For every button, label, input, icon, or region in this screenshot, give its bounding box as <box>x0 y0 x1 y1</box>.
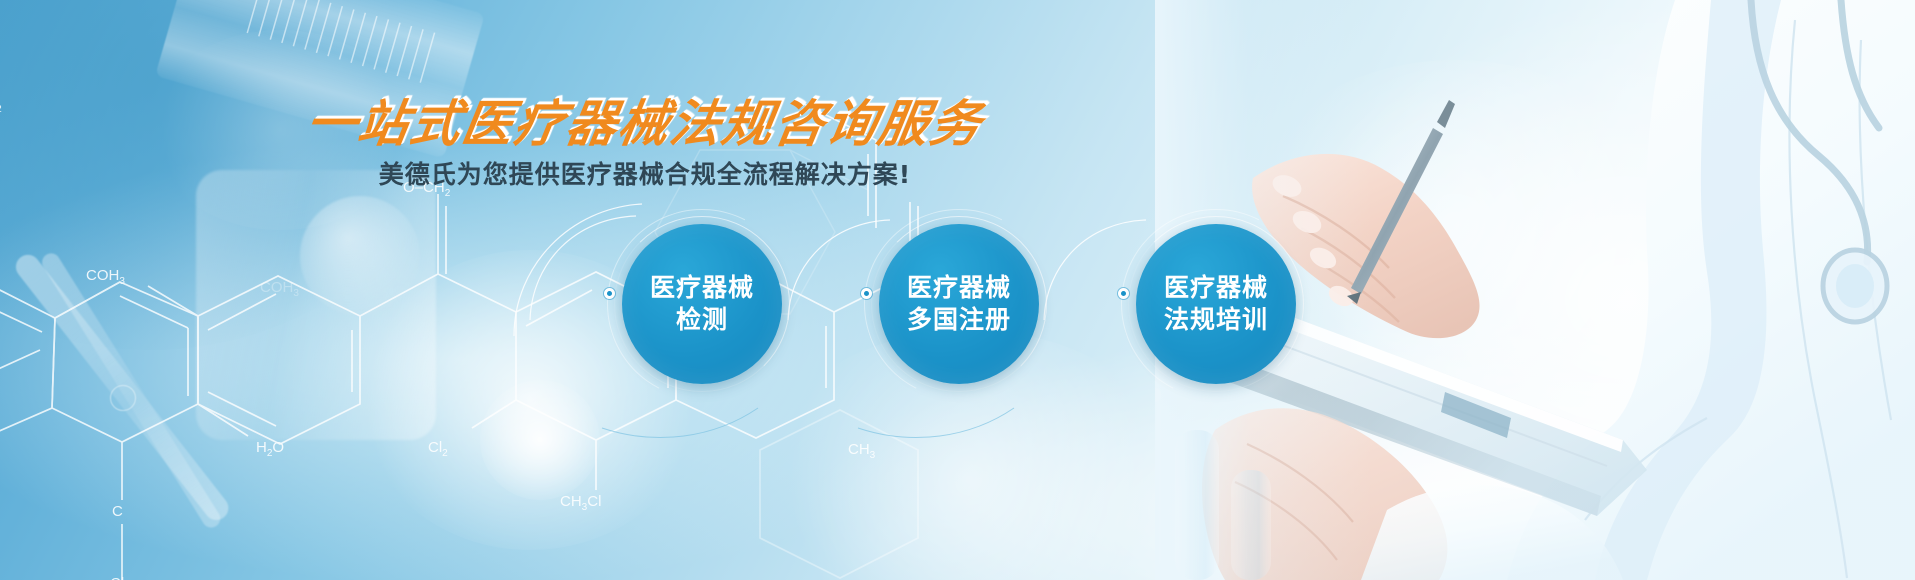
chem-label-c: C <box>112 503 123 520</box>
service-badge-group: 医疗器械 检测 医疗器械 多国注册 医疗器械 法规培训 <box>614 216 1304 392</box>
chem-label-coh3: COH3 <box>86 267 125 287</box>
page-subtitle: 美德氏为您提供医疗器械合规全流程解决方案! <box>379 155 911 191</box>
subheadline-container: 美德氏为您提供医疗器械合规全流程解决方案! <box>0 155 1290 191</box>
service-badge-testing[interactable]: 医疗器械 检测 <box>614 216 790 392</box>
badge-label-line2: 检测 <box>676 304 728 336</box>
service-badge-multicountry-registration[interactable]: 医疗器械 多国注册 <box>871 216 1047 392</box>
badge-label-line1: 医疗器械 <box>650 272 754 304</box>
badge-disc: 医疗器械 检测 <box>622 224 782 384</box>
service-badge-regulatory-training[interactable]: 医疗器械 法规培训 <box>1128 216 1304 392</box>
chem-label-cl: Cl <box>110 575 124 580</box>
badge-label-line1: 医疗器械 <box>1164 272 1268 304</box>
badge-node-dot-icon <box>604 288 615 299</box>
badge-node-dot-icon <box>1118 288 1129 299</box>
badge-node-dot-icon <box>861 288 872 299</box>
badge-label-line1: 医疗器械 <box>907 272 1011 304</box>
chem-label-ch3cl: CH3Cl <box>560 493 601 513</box>
page-title: 一站式医疗器械法规咨询服务 <box>301 84 988 156</box>
badge-label-line2: 法规培训 <box>1164 304 1268 336</box>
chem-label-cl2-lower: Cl2 <box>428 439 448 459</box>
chem-label-ch3: CH3 <box>848 441 876 461</box>
headline-container: 一站式医疗器械法规咨询服务 <box>0 84 1290 156</box>
promotional-banner: Cl2 COH3 O–CH2 H2O Cl2 CH3Cl CH3 <box>0 0 1915 580</box>
chem-label-h2o: H2O <box>256 439 284 459</box>
badge-label-line2: 多国注册 <box>907 304 1011 336</box>
badge-disc: 医疗器械 多国注册 <box>879 224 1039 384</box>
chem-label-coh3-faint: COH3 <box>260 279 299 299</box>
badge-disc: 医疗器械 法规培训 <box>1136 224 1296 384</box>
